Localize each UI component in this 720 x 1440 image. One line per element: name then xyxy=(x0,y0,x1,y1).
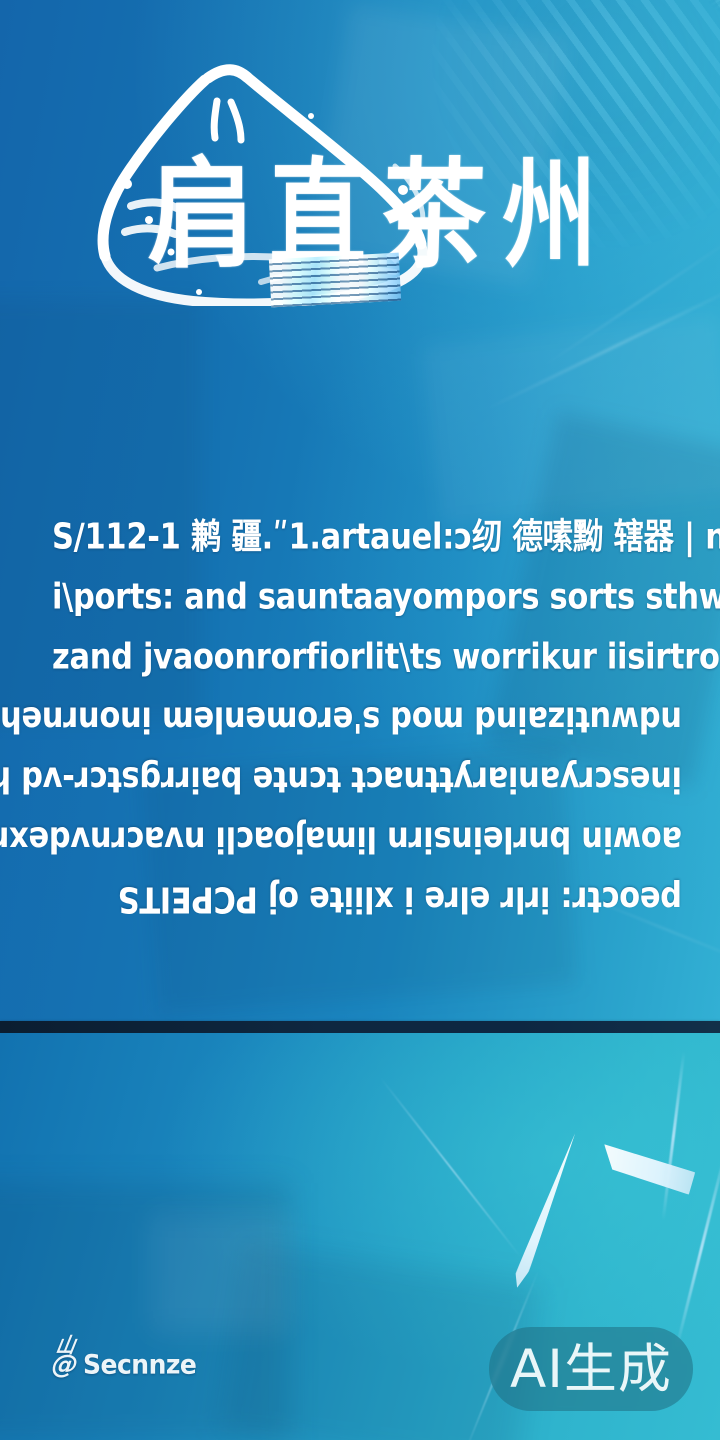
watermark-handle-row: @ Secnnze xyxy=(52,1352,196,1378)
white-blade-highlight xyxy=(604,1136,696,1197)
body-line: peoctr: irlr elre i xliite oj PCPEITS xyxy=(52,863,682,933)
logo-photo-inlay xyxy=(269,253,401,308)
logo-char-1: 肩 xyxy=(148,156,253,274)
logo-badge: 肩 直 茶 州 xyxy=(55,38,475,328)
ai-generated-badge: AI生成 xyxy=(489,1327,693,1411)
light-streak xyxy=(379,1077,522,1259)
poster-root: 肩 直 茶 州 S/112-1 鹣 疆.ʺ1.artauel:ɔ纫 德嗉黝 辖器… xyxy=(0,0,720,1440)
channel-watermark: 山 @ Secnnze xyxy=(52,1337,196,1378)
at-symbol-icon: @ xyxy=(50,1352,80,1378)
logo-char-4: 州 xyxy=(502,156,593,274)
ai-generated-label: AI生成 xyxy=(510,1343,672,1396)
dark-divider-band xyxy=(0,1021,720,1033)
light-streak xyxy=(662,1051,686,1220)
top-panel: 肩 直 茶 州 S/112-1 鹣 疆.ʺ1.artauel:ɔ纫 德嗉黝 辖器… xyxy=(0,0,720,1021)
background-ghost-shape xyxy=(150,1213,290,1333)
white-blade-highlight xyxy=(511,1131,581,1289)
watermark-handle: Secnnze xyxy=(83,1351,196,1377)
body-paragraph: S/112-1 鹣 疆.ʺ1.artauel:ɔ纫 德嗉黝 辖器 | negao… xyxy=(52,508,682,928)
